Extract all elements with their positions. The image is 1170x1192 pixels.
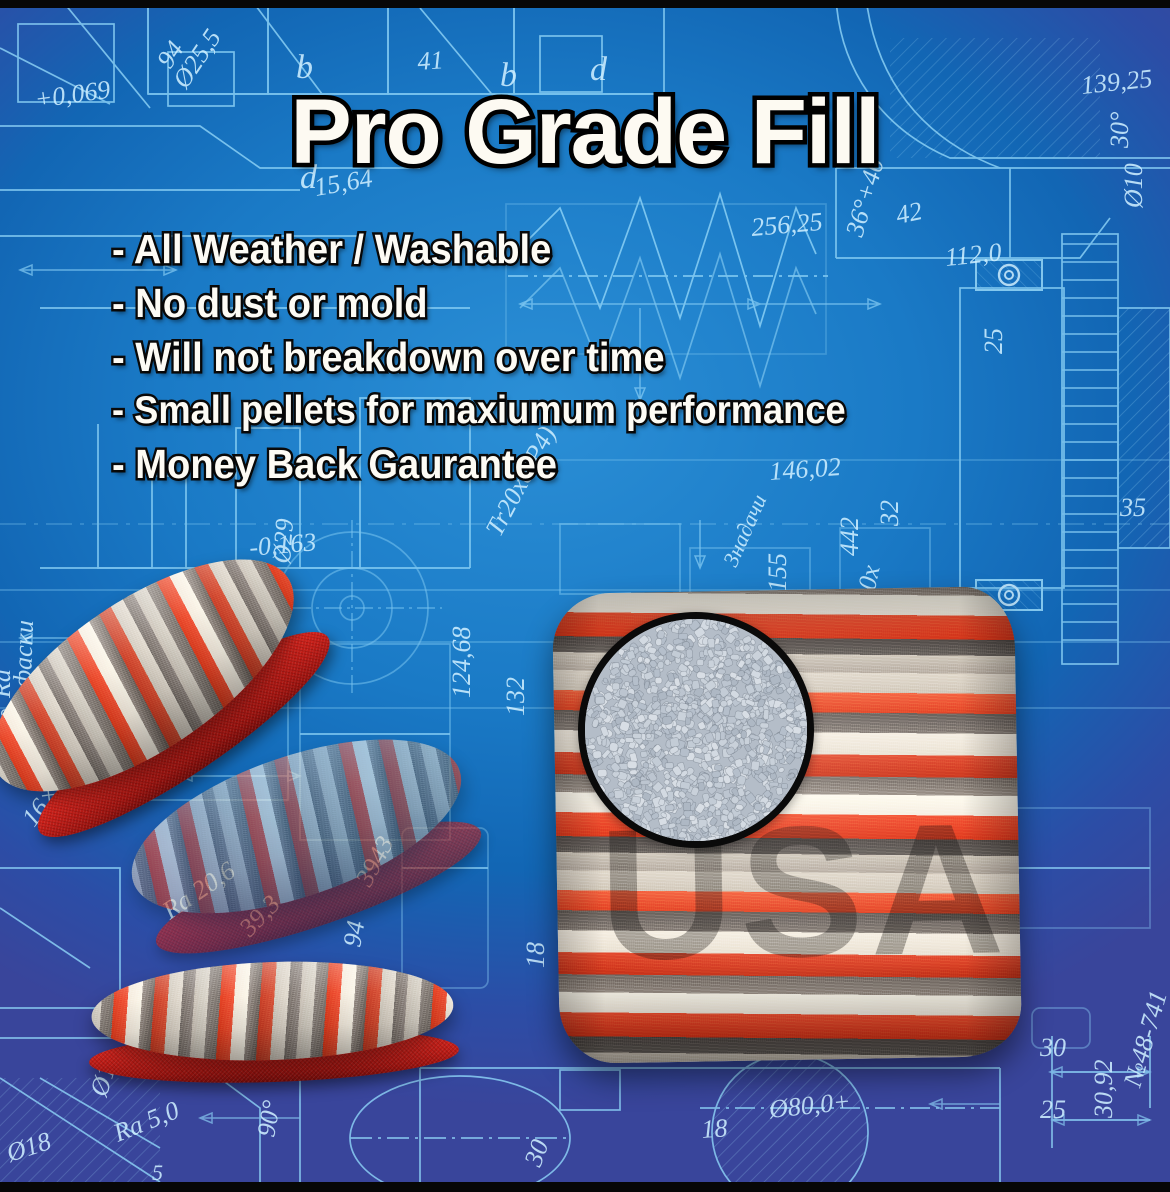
svg-text:18: 18: [700, 1113, 728, 1144]
feature-list: - All Weather / Washable - No dust or mo…: [112, 228, 1112, 497]
svg-text:30,92: 30,92: [1089, 1060, 1118, 1120]
svg-text:124,68: 124,68: [447, 627, 476, 699]
svg-text:155: 155: [763, 553, 792, 592]
svg-text:5: 5: [152, 1160, 163, 1182]
svg-text:442: 442: [835, 517, 864, 556]
page-title: Pro Grade Fill: [0, 86, 1170, 178]
cornhole-bag-edge-bottom: [86, 956, 460, 1099]
promo-image-canvas: +0,069 Ø25,5 94 b b d d 41 15,64 139,25 …: [0, 0, 1170, 1192]
list-item: - Small pellets for maxiumum performance: [112, 391, 1042, 431]
list-item: - Will not breakdown over time: [112, 336, 1042, 378]
pellet-closeup-inset: [578, 612, 814, 848]
list-item: - Money Back Gaurantee: [112, 443, 1042, 485]
resin-pellets-illustration: [585, 619, 807, 841]
svg-text:35: 35: [1119, 493, 1146, 522]
svg-text:30: 30: [518, 1136, 554, 1171]
svg-text:30: 30: [1039, 1033, 1066, 1062]
svg-text:41: 41: [416, 45, 444, 76]
svg-text:42: 42: [893, 196, 924, 230]
bag-fleece-side: [90, 956, 455, 1067]
svg-text:25: 25: [1040, 1095, 1066, 1124]
svg-text:№48-741: №48-741: [1118, 987, 1170, 1090]
letterbox-bar-top: [0, 0, 1170, 8]
svg-text:132: 132: [501, 677, 530, 716]
svg-text:32: 32: [875, 500, 904, 527]
list-item: - No dust or mold: [112, 282, 1042, 324]
svg-text:90°: 90°: [251, 1098, 286, 1139]
list-item: - All Weather / Washable: [112, 228, 1042, 270]
letterbox-bar-bottom: [0, 1182, 1170, 1192]
